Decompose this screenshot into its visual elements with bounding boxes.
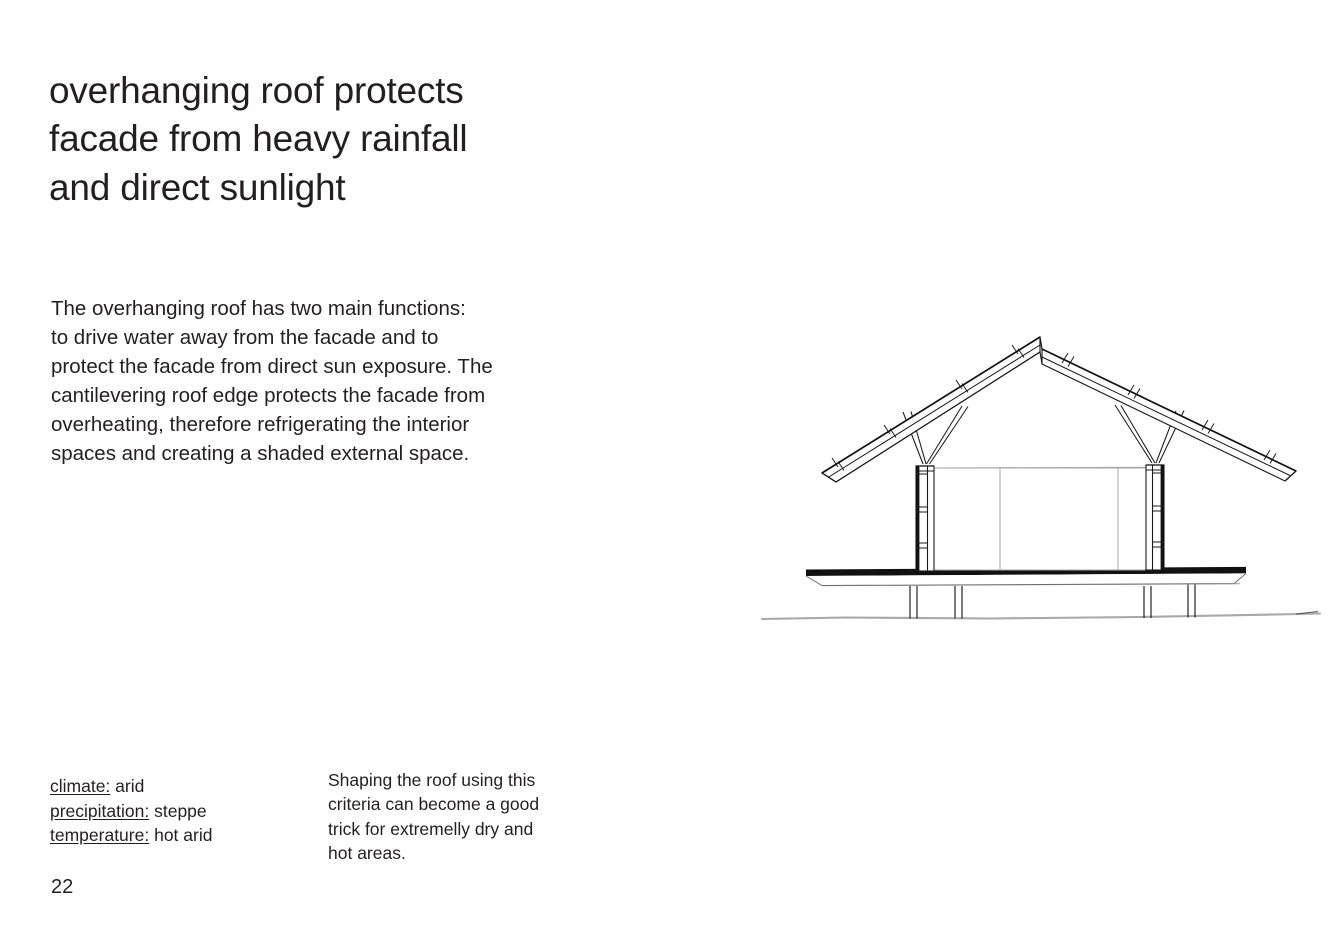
left-column bbox=[916, 466, 934, 571]
temperature-value: hot arid bbox=[149, 825, 212, 845]
temperature-row: temperature: hot arid bbox=[50, 823, 310, 848]
body-paragraph: The overhanging roof has two main functi… bbox=[51, 294, 621, 468]
left-roof-inner bbox=[836, 352, 1040, 482]
climate-metadata-block: climate: arid precipitation: steppe temp… bbox=[50, 774, 310, 848]
page-headline: overhanging roof protects facade from he… bbox=[49, 67, 649, 213]
precipitation-row: precipitation: steppe bbox=[50, 799, 310, 824]
right-roof-slope bbox=[1042, 349, 1296, 481]
climate-row: climate: arid bbox=[50, 774, 310, 799]
left-roof-slope bbox=[822, 337, 1040, 482]
climate-label: climate: bbox=[50, 776, 110, 796]
ground-line bbox=[762, 612, 1320, 620]
section-drawing-svg bbox=[740, 311, 1330, 651]
climate-value: arid bbox=[110, 776, 144, 796]
stilts bbox=[910, 584, 1195, 619]
right-column bbox=[1146, 465, 1164, 570]
architectural-section-drawing bbox=[740, 311, 1330, 651]
precipitation-value: steppe bbox=[149, 801, 206, 821]
wall-panels bbox=[932, 467, 1148, 570]
side-caption: Shaping the roof using this criteria can… bbox=[328, 768, 588, 866]
page-number: 22 bbox=[51, 876, 73, 899]
temperature-label: temperature: bbox=[50, 825, 149, 845]
precipitation-label: precipitation: bbox=[50, 801, 149, 821]
document-page: overhanging roof protects facade from he… bbox=[0, 0, 1330, 942]
